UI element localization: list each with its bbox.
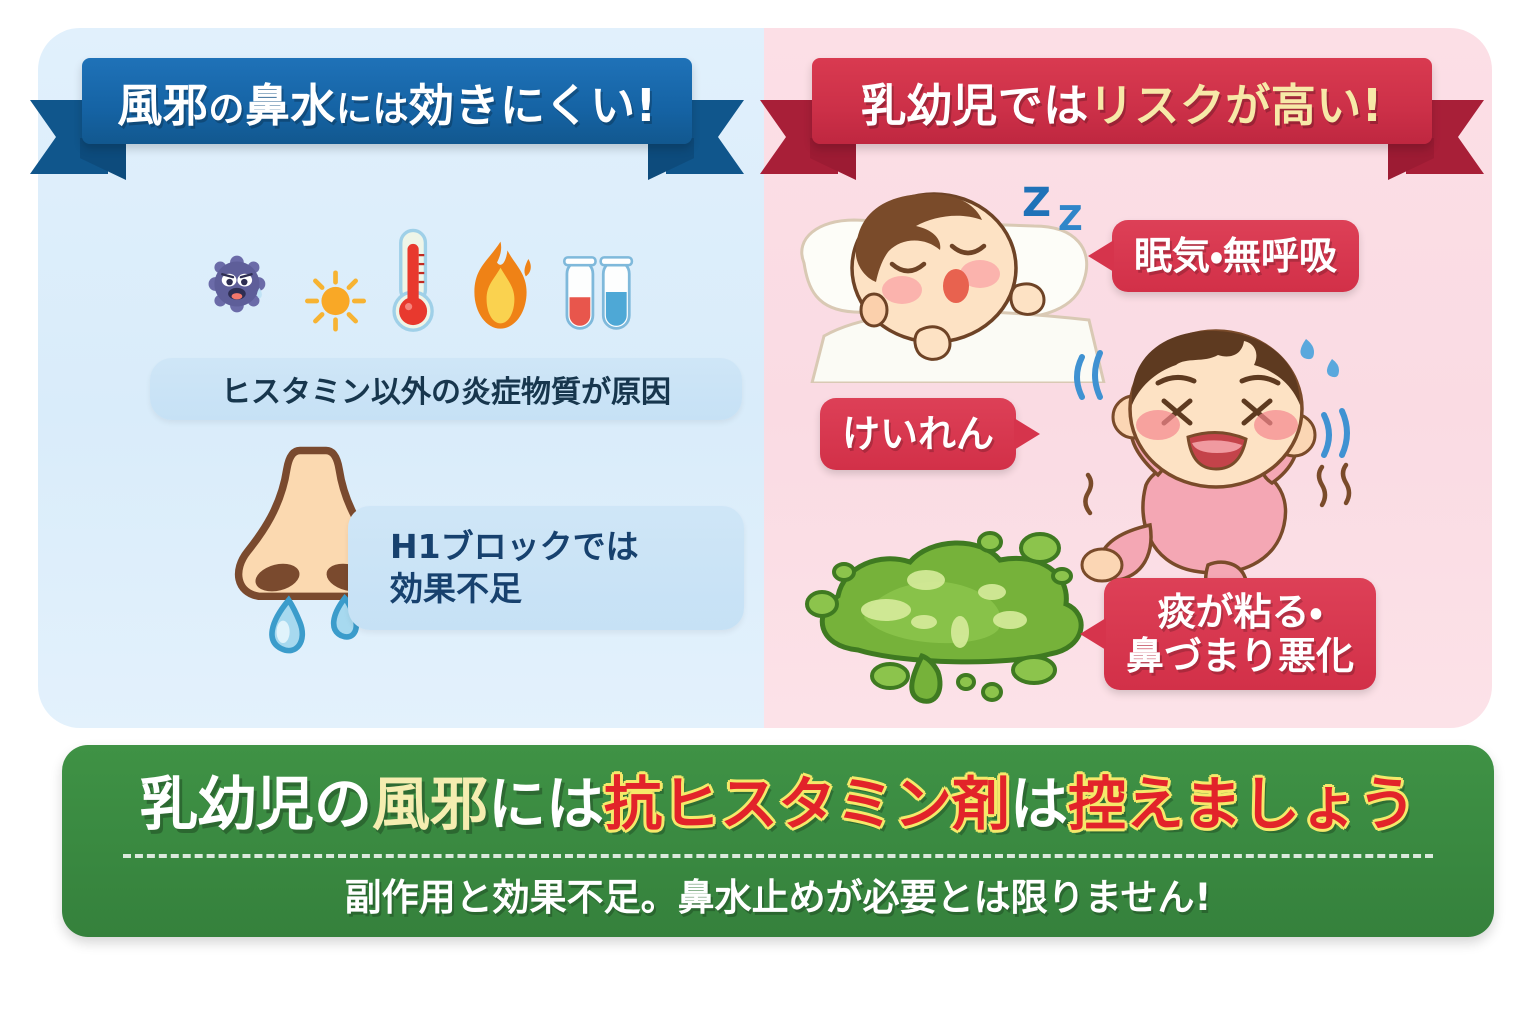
right-banner-seg3: ! xyxy=(1362,79,1383,132)
bubble-phlegm-line2: 鼻づまり悪化 xyxy=(1126,634,1354,678)
right-banner-body: 乳幼児ではリスクが高い! xyxy=(812,58,1432,144)
thermometer-icon xyxy=(385,226,441,338)
right-banner-seg1: 乳幼児では xyxy=(861,79,1089,132)
h1-block-line1: H1ブロックでは xyxy=(390,527,639,566)
footer-divider xyxy=(123,854,1433,858)
footer-seg2: 風邪 xyxy=(372,770,488,838)
zzz-mark: Z xyxy=(1022,180,1051,226)
cause-pill: ヒスタミン以外の炎症物質が原因 xyxy=(150,358,742,420)
left-banner: 風邪の鼻水には効きにくい! xyxy=(82,58,692,144)
bubble-phlegm: 痰が粘る・ 鼻づまり悪化 xyxy=(1104,578,1376,690)
sun-icon xyxy=(302,264,369,338)
virus-icon xyxy=(188,230,286,338)
footer-seg1: 乳幼児の xyxy=(140,770,372,838)
footer-banner: 乳幼児の風邪には抗ヒスタミン剤は控えましょう 副作用と効果不足。鼻水止めが必要と… xyxy=(62,745,1494,937)
left-banner-seg3: 鼻水 xyxy=(245,79,336,132)
footer-seg6: 控えましょう xyxy=(1068,770,1416,838)
cause-pill-text: ヒスタミン以外の炎症物質が原因 xyxy=(221,367,671,411)
h1-block-pill: H1ブロックでは 効果不足 xyxy=(348,506,744,630)
left-icon-row xyxy=(188,218,638,338)
footer-seg5: は xyxy=(1010,770,1068,838)
h1-block-line2: 効果不足 xyxy=(390,569,522,608)
bubble-seizure-tail xyxy=(1014,418,1040,450)
right-banner-text: 乳幼児ではリスクが高い! xyxy=(861,69,1383,134)
svg-text:Z: Z xyxy=(1058,199,1083,239)
left-banner-seg1: 風邪 xyxy=(117,79,208,132)
footer-sub-text: 副作用と効果不足。鼻水止めが必要とは限りません! xyxy=(345,867,1212,921)
right-banner: 乳幼児ではリスクが高い! xyxy=(812,58,1432,144)
bubble-sleepy: 眠気・無呼吸 xyxy=(1112,220,1359,292)
footer-main-text: 乳幼児の風邪には抗ヒスタミン剤は控えましょう xyxy=(140,757,1416,841)
flame-icon xyxy=(457,234,544,338)
left-banner-seg4: には xyxy=(336,89,409,130)
left-banner-body: 風邪の鼻水には効きにくい! xyxy=(82,58,692,144)
bubble-sleepy-tail xyxy=(1088,240,1114,272)
test-tubes-icon xyxy=(560,246,638,338)
green-phlegm-illustration xyxy=(794,518,1104,718)
bubble-phlegm-tail xyxy=(1080,618,1106,650)
h1-block-text: H1ブロックでは 効果不足 xyxy=(390,526,639,610)
left-banner-text: 風邪の鼻水には効きにくい! xyxy=(117,69,656,134)
footer-seg3: には xyxy=(488,770,604,838)
bubble-sleepy-text: 眠気・無呼吸 xyxy=(1134,234,1337,278)
bubble-phlegm-line1: 痰が粘る・ xyxy=(1158,590,1323,634)
bubble-phlegm-text: 痰が粘る・ 鼻づまり悪化 xyxy=(1126,590,1354,678)
left-banner-seg2: の xyxy=(208,89,245,130)
bubble-seizure-text: けいれん xyxy=(842,412,994,456)
footer-seg4: 抗ヒスタミン剤 xyxy=(604,770,1010,838)
bubble-seizure: けいれん xyxy=(820,398,1016,470)
right-banner-seg2: リスクが高い xyxy=(1089,79,1362,132)
infographic-root: ヒスタミン以外の炎症物質が原因 H1ブロックでは 効果不足 xyxy=(0,0,1536,1024)
left-banner-seg5: 効きにくい! xyxy=(409,79,657,132)
